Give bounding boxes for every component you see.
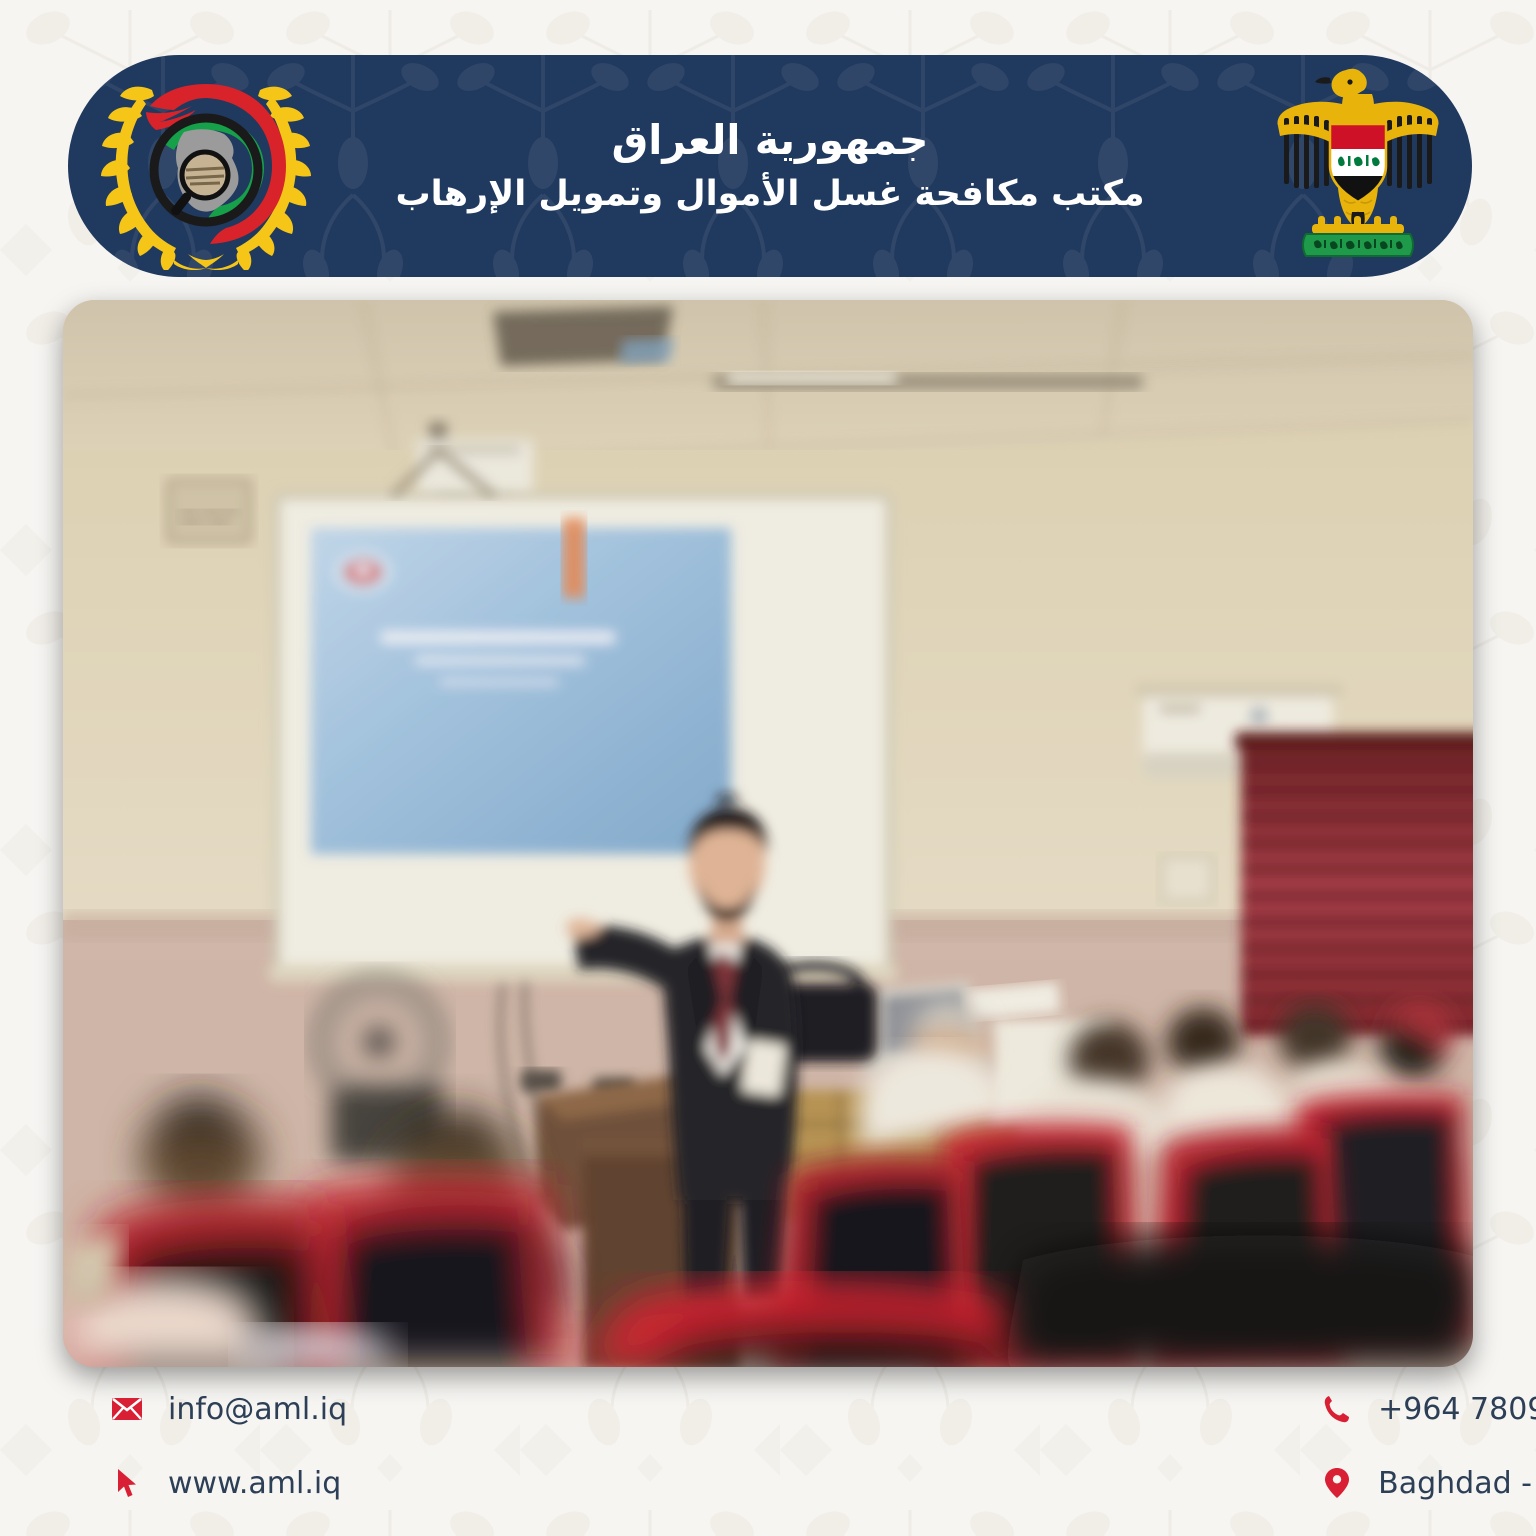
footer-phone-label: +964 7809291412	[1378, 1392, 1536, 1427]
footer-contact-bar: info@aml.iq www.aml.iq +964 7809291412	[0, 1392, 1536, 1536]
phone-icon	[1322, 1393, 1352, 1425]
page-title: جمهورية العراق	[390, 114, 1150, 166]
header-title-block: جمهورية العراق مكتب مكافحة غسل الأموال و…	[390, 114, 1150, 218]
footer-address[interactable]: بغداد - الجادرية - Baghdad - AlJadriya	[1322, 1466, 1536, 1500]
aml-office-logo	[100, 62, 312, 270]
footer-website-label: www.aml.iq	[168, 1466, 341, 1501]
footer-phone[interactable]: +964 7809291412	[1322, 1392, 1536, 1426]
footer-email[interactable]: info@aml.iq	[112, 1392, 347, 1426]
footer-address-label: بغداد - الجادرية - Baghdad - AlJadriya	[1378, 1466, 1536, 1501]
envelope-icon	[112, 1393, 142, 1425]
location-pin-icon	[1322, 1467, 1352, 1499]
footer-email-label: info@aml.iq	[168, 1392, 347, 1427]
page-subtitle: مكتب مكافحة غسل الأموال وتمويل الإرهاب	[390, 172, 1150, 218]
iraq-coat-of-arms	[1268, 62, 1448, 272]
footer-right-column: +964 7809291412 بغداد - الجادرية - Baghd…	[347, 1392, 1536, 1536]
cursor-arrow-icon	[112, 1467, 142, 1499]
footer-website[interactable]: www.aml.iq	[112, 1466, 347, 1500]
event-photo	[63, 300, 1473, 1367]
footer-left-column: info@aml.iq www.aml.iq	[0, 1392, 347, 1536]
